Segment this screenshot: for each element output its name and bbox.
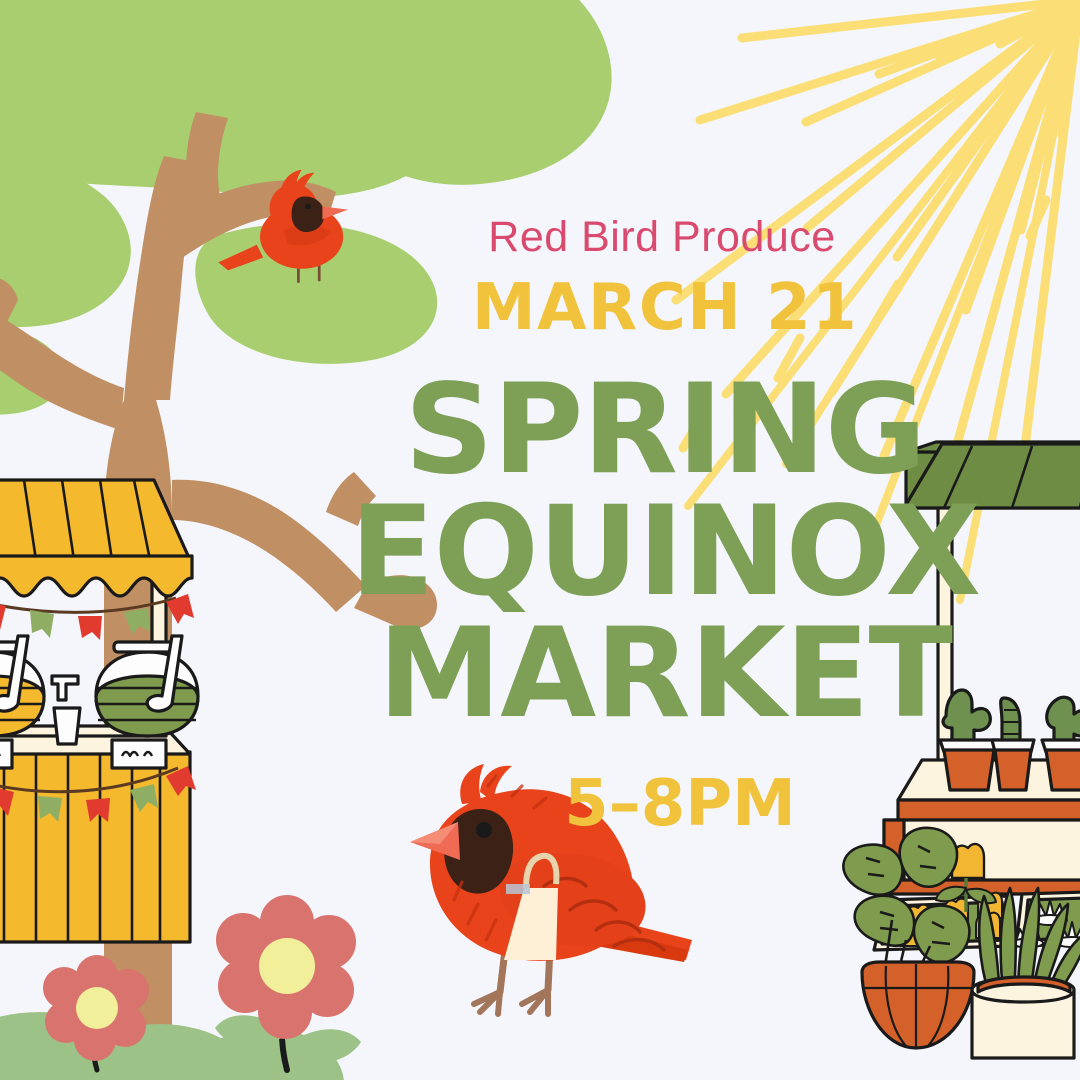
shelf-orange-band <box>898 800 1080 820</box>
flower-center <box>76 987 118 1029</box>
title-line-2: EQUINOX <box>350 490 980 614</box>
event-date: MARCH 21 <box>472 276 858 340</box>
price-tag-right <box>112 740 166 768</box>
title-line-1: SPRING <box>404 368 925 492</box>
lemonade-stand <box>0 480 198 942</box>
stall-counter-body <box>0 752 190 942</box>
bird-eye <box>476 822 492 838</box>
event-time: 5–8PM <box>564 772 796 836</box>
title-line-3: MARKET <box>378 612 952 736</box>
poster-canvas: Red Bird Produce MARCH 21 SPRING EQUINOX… <box>0 0 1080 1080</box>
brand-name: Red Bird Produce <box>488 216 835 259</box>
flower-center <box>259 938 315 994</box>
price-tag-left <box>0 740 12 768</box>
